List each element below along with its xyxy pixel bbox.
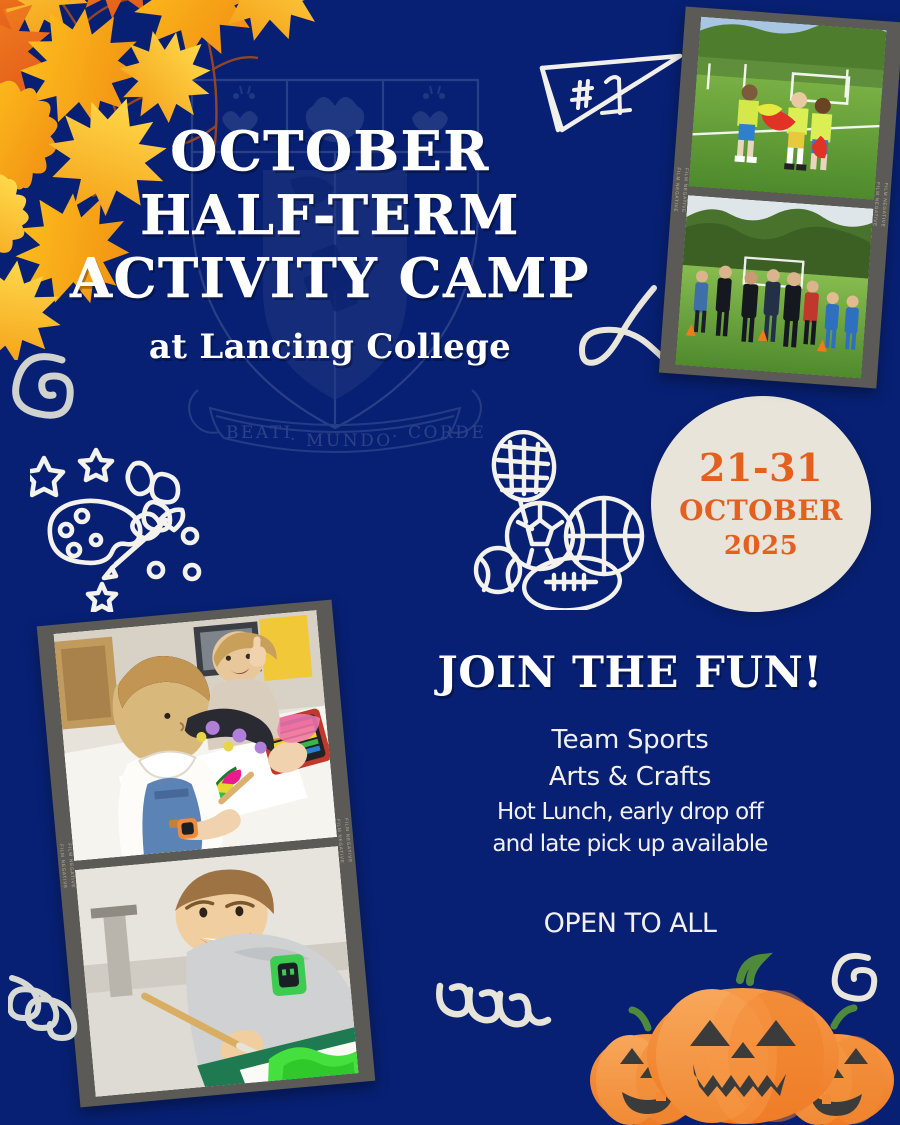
activity-line-2: Arts & Crafts xyxy=(410,759,850,796)
activity-line-4: and late pick up available xyxy=(410,828,850,861)
poster-title-block: OCTOBER HALF-TERM ACTIVITY CAMP at Lanci… xyxy=(0,120,660,367)
activity-line-1: Team Sports xyxy=(410,722,850,759)
photo-girls-drawing xyxy=(53,610,337,861)
arts-photo-strip: FILM NEGATIVEFILM NEGATIVE FILM NEGATIVE… xyxy=(37,600,376,1108)
crest-motto-mid: MUNDO xyxy=(306,431,393,451)
photo-team-huddle xyxy=(675,195,873,378)
coil-squiggle-doodle xyxy=(432,962,554,1044)
poster-subtitle: at Lancing College xyxy=(0,327,660,367)
art-palette-doodle xyxy=(30,432,230,612)
date-badge: 21-31 OCTOBER 2025 xyxy=(651,396,871,612)
title-line-3: ACTIVITY CAMP xyxy=(0,247,660,311)
activity-line-3: Hot Lunch, early drop off xyxy=(410,796,850,829)
title-line-1: OCTOBER xyxy=(0,120,660,184)
pumpkins-group xyxy=(586,952,900,1125)
poster-canvas: BEATI · MUNDO · CORDE xyxy=(0,0,900,1125)
activities-copy: Team Sports Arts & Crafts Hot Lunch, ear… xyxy=(410,722,850,861)
sports-photo-strip: FILM NEGATIVEFILM NEGATIVE FILM NEGATIVE… xyxy=(659,7,900,389)
date-range: 21-31 xyxy=(699,445,823,491)
open-to-all-text: OPEN TO ALL xyxy=(410,908,850,939)
crest-motto-dot-1: · xyxy=(290,430,298,450)
title-line-2: HALF-TERM xyxy=(0,184,660,248)
crest-motto-left: BEATI xyxy=(226,423,293,443)
sports-balls-doodle xyxy=(468,430,664,610)
crest-motto-right: CORDE xyxy=(408,423,486,443)
photo-football-bibs xyxy=(689,17,887,200)
photo-boy-painting xyxy=(75,846,359,1097)
date-year: 2025 xyxy=(724,531,798,563)
date-month: OCTOBER xyxy=(679,494,843,528)
join-the-fun-heading: JOIN THE FUN! xyxy=(420,648,840,698)
large-centre-pumpkin xyxy=(647,958,839,1124)
crest-motto-dot-2: · xyxy=(392,427,400,447)
